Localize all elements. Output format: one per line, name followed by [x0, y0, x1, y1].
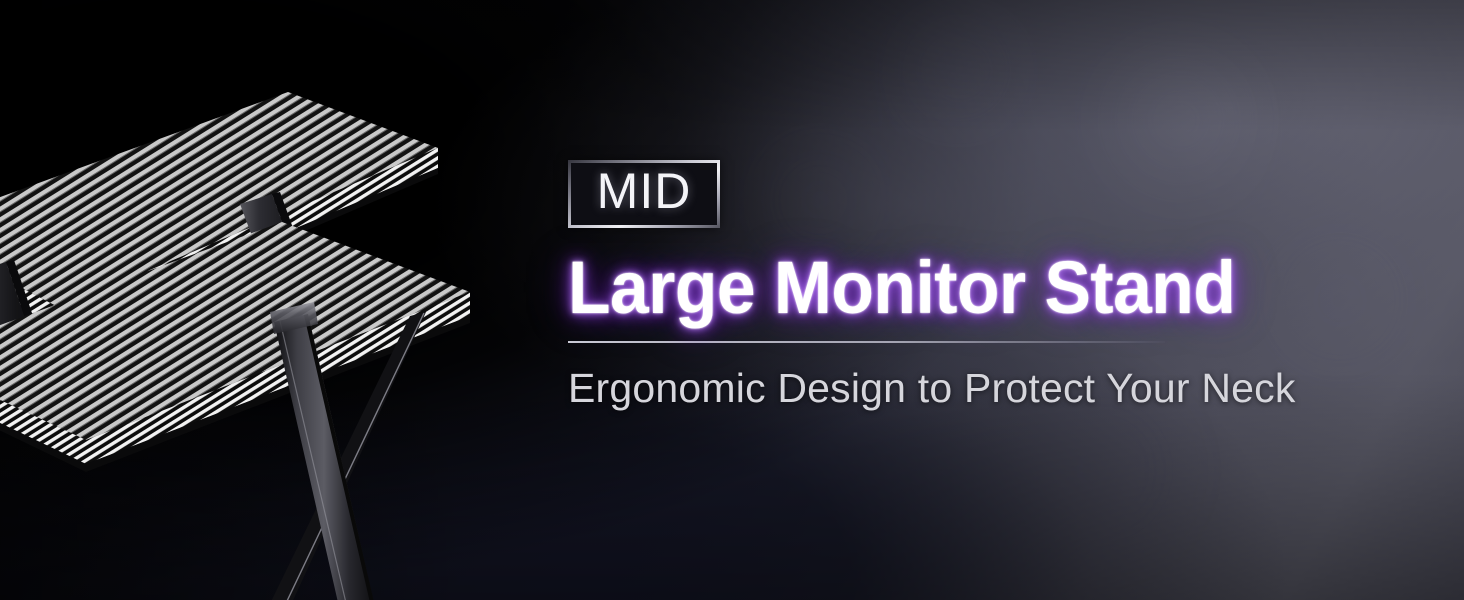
title-divider [568, 341, 1165, 343]
promo-banner: MID Large Monitor Stand Ergonomic Design… [0, 0, 1464, 600]
product-image-monitor-stand [0, 40, 590, 600]
badge-mid: MID [568, 160, 720, 228]
copy-block: MID Large Monitor Stand Ergonomic Design… [568, 160, 1428, 412]
page-subtitle: Ergonomic Design to Protect Your Neck [568, 365, 1428, 412]
badge-mid-label: MID [597, 163, 692, 219]
page-title: Large Monitor Stand [568, 250, 1376, 325]
badge-mid-inner: MID [571, 163, 717, 225]
monitor-stand-illustration [0, 40, 590, 600]
